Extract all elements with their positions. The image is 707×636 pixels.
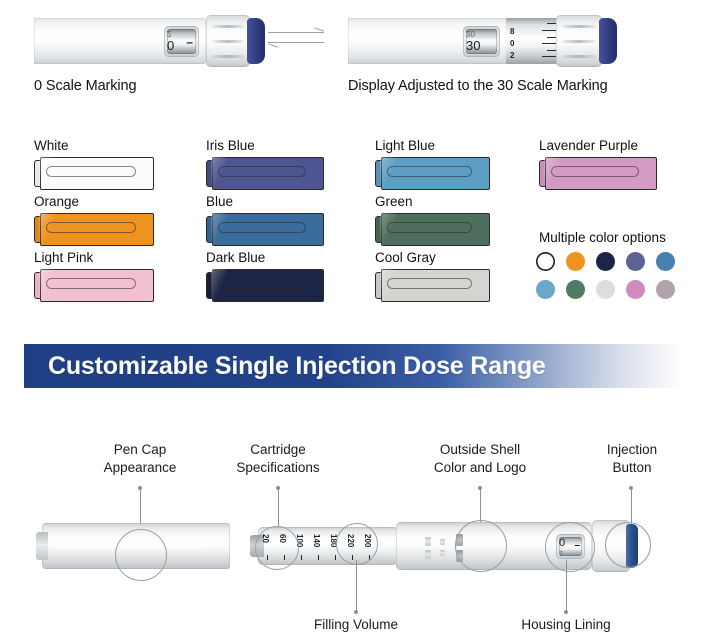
- logo-mark-icon: [440, 550, 445, 556]
- dose-next-value: 1: [167, 53, 196, 54]
- color-swatch-iris-blue[interactable]: [206, 157, 324, 190]
- highlight-circle-injection-button: [605, 522, 651, 568]
- callout-cartridge-specifications: Cartridge Specifications: [218, 441, 338, 477]
- pen-collar: [556, 15, 602, 67]
- swatch-label-blue: Blue: [206, 194, 233, 209]
- color-options-section: WhiteIris BlueLight BlueLavender PurpleO…: [0, 118, 707, 313]
- leader-line: [356, 560, 357, 612]
- color-option-dot[interactable]: [596, 252, 615, 271]
- color-option-dot[interactable]: [656, 252, 675, 271]
- color-swatch-white[interactable]: [34, 157, 154, 190]
- color-swatch-light-blue[interactable]: [375, 157, 490, 190]
- color-option-dot[interactable]: [596, 280, 615, 299]
- color-option-dot[interactable]: [566, 280, 585, 299]
- top-comparison-section: 2 0 1 – 0 Scale Marking 20 30 32: [0, 0, 707, 112]
- color-swatch-blue[interactable]: [206, 213, 324, 246]
- leader-line: [566, 560, 567, 612]
- swatch-label-light-blue: Light Blue: [375, 138, 435, 153]
- color-swatch-orange[interactable]: [34, 213, 154, 246]
- scale-tick-label: 2: [510, 51, 514, 60]
- pen-collar: [206, 15, 250, 67]
- color-option-dot[interactable]: [566, 252, 585, 271]
- swatch-groove: [46, 166, 136, 177]
- scale-tick-label: 0: [510, 39, 514, 48]
- banner-title: Customizable Single Injection Dose Range: [24, 352, 546, 381]
- color-option-dot[interactable]: [536, 280, 555, 299]
- injection-button-icon[interactable]: [247, 18, 265, 64]
- color-option-dot[interactable]: [626, 280, 645, 299]
- swatch-groove: [551, 166, 639, 177]
- color-option-dot[interactable]: [656, 280, 675, 299]
- annotated-pen-diagram: Pen Cap Appearance Cartridge Specificati…: [0, 410, 707, 636]
- collar-ridge-icon: [212, 25, 244, 28]
- swatch-groove: [218, 278, 306, 289]
- collar-ridge-icon: [562, 55, 595, 58]
- equilibrium-double-arrow-icon: [268, 28, 328, 50]
- highlight-circle-cartridge: [255, 526, 299, 570]
- dose-window-frame: 20 30 32: [463, 26, 500, 57]
- leader-dot: [564, 610, 568, 614]
- callout-filling-volume: Filling Volume: [296, 616, 416, 634]
- dose-window-inner: 20 30 32: [466, 29, 497, 54]
- multiple-color-options-title: Multiple color options: [539, 230, 666, 245]
- dose-window-frame: 2 0 1 –: [164, 26, 199, 57]
- swatch-label-dark-blue: Dark Blue: [206, 250, 265, 265]
- cartridge-scale-tick: [318, 555, 319, 560]
- dose-scale-strip: 8 0 2: [506, 18, 558, 64]
- cartridge-scale-label: 140: [312, 534, 321, 547]
- callout-outside-shell-color-and-logo: Outside Shell Color and Logo: [415, 441, 545, 477]
- dose-window-inner: 2 0 1 –: [167, 29, 196, 54]
- dose-current-value: 30: [466, 38, 497, 53]
- collar-ridge-icon: [212, 40, 244, 43]
- highlight-circle-shell-logo: [455, 520, 507, 572]
- collar-ridge-icon: [212, 55, 244, 58]
- callout-pen-cap-appearance: Pen Cap Appearance: [80, 441, 200, 477]
- swatch-groove: [387, 278, 472, 289]
- scale-tick-label: 8: [510, 27, 514, 36]
- color-swatch-green[interactable]: [375, 213, 490, 246]
- swatch-label-light-pink: Light Pink: [34, 250, 93, 265]
- pen-zero-scale: 2 0 1 –: [34, 12, 259, 68]
- callout-injection-button: Injection Button: [586, 441, 678, 477]
- pen-cap-endcap: [36, 532, 48, 560]
- swatch-groove: [387, 166, 472, 177]
- color-swatch-dark-blue[interactable]: [206, 269, 324, 302]
- dose-next-value: 32: [466, 53, 497, 54]
- cartridge-scale-tick: [335, 555, 336, 560]
- left-pen-caption: 0 Scale Marking: [34, 78, 136, 94]
- color-option-dot[interactable]: [626, 252, 645, 271]
- injection-button-icon[interactable]: [599, 18, 617, 64]
- swatch-groove: [46, 278, 136, 289]
- callout-housing-lining: Housing Lining: [506, 616, 626, 634]
- swatch-groove: [218, 222, 306, 233]
- dose-prev-value: 20: [466, 29, 497, 38]
- highlight-circle-housing-lining: [545, 522, 595, 572]
- swatch-groove: [46, 222, 136, 233]
- logo-mark-icon: [425, 550, 431, 559]
- section-banner: Customizable Single Injection Dose Range: [24, 344, 684, 388]
- color-swatch-light-pink[interactable]: [34, 269, 154, 302]
- collar-ridge-icon: [562, 25, 595, 28]
- collar-ridge-icon: [562, 40, 595, 43]
- highlight-circle-pen-cap: [115, 529, 167, 581]
- swatch-label-cool-gray: Cool Gray: [375, 250, 436, 265]
- color-swatch-cool-gray[interactable]: [375, 269, 490, 302]
- logo-mark-icon: [425, 537, 431, 546]
- logo-mark-icon: [440, 539, 445, 545]
- dose-dash-icon: –: [186, 35, 193, 49]
- swatch-label-iris-blue: Iris Blue: [206, 138, 255, 153]
- swatch-groove: [218, 166, 306, 177]
- swatch-groove: [387, 222, 472, 233]
- highlight-circle-filling-volume: [336, 523, 378, 565]
- color-option-dot[interactable]: [536, 252, 555, 271]
- swatch-label-orange: Orange: [34, 194, 79, 209]
- color-swatch-lavender-purple[interactable]: [539, 157, 657, 190]
- pen-thirty-scale: 20 30 32 8 0 2: [348, 12, 620, 68]
- swatch-label-white: White: [34, 138, 69, 153]
- leader-dot: [354, 610, 358, 614]
- right-pen-caption: Display Adjusted to the 30 Scale Marking: [348, 78, 608, 94]
- swatch-label-lavender-purple: Lavender Purple: [539, 138, 638, 153]
- swatch-label-green: Green: [375, 194, 413, 209]
- cartridge-scale-tick: [301, 555, 302, 560]
